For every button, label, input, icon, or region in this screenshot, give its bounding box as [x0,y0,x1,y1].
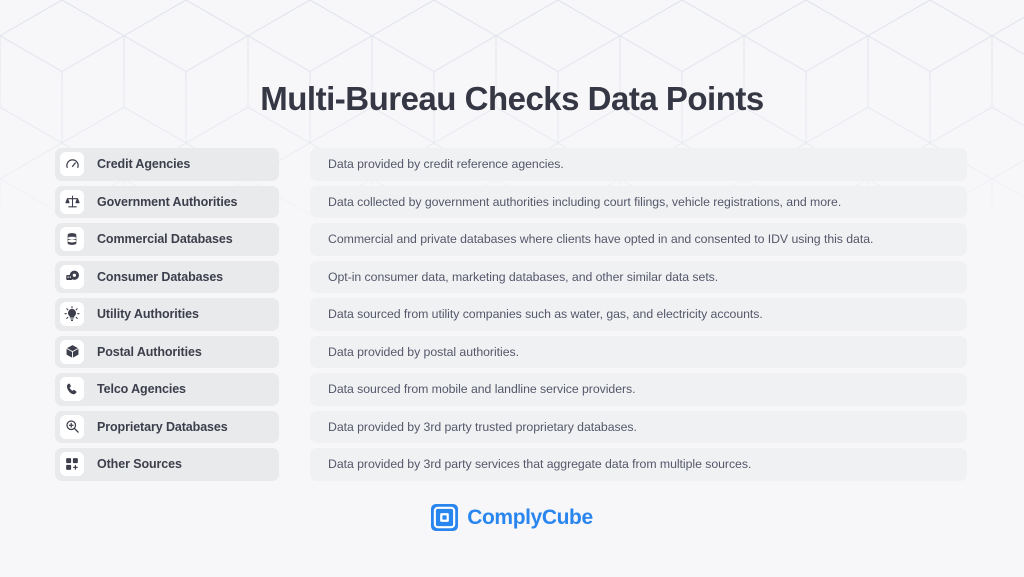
label-text: Credit Agencies [97,157,190,171]
label-pill-utility-authorities[interactable]: Utility Authorities [55,298,279,331]
gauge-icon [60,152,84,176]
description-text: Commercial and private databases where c… [328,232,873,246]
complycube-logo-mark [431,504,458,531]
label-pill-consumer-databases[interactable]: Consumer Databases [55,261,279,294]
description-pill: Data provided by 3rd party trusted propr… [310,411,967,444]
complycube-logo: ComplyCube [0,504,1024,531]
grid-plus-icon [60,452,84,476]
package-box-icon [60,340,84,364]
consumer-data-icon [60,265,84,289]
label-pill-other-sources[interactable]: Other Sources [55,448,279,481]
label-pill-credit-agencies[interactable]: Credit Agencies [55,148,279,181]
table-row: Commercial Databases Commercial and priv… [55,223,967,256]
description-pill: Data collected by government authorities… [310,186,967,219]
scales-of-justice-icon [60,190,84,214]
description-text: Data provided by 3rd party services that… [328,457,751,471]
label-pill-proprietary-databases[interactable]: Proprietary Databases [55,411,279,444]
description-pill: Data provided by credit reference agenci… [310,148,967,181]
description-text: Opt-in consumer data, marketing database… [328,270,718,284]
label-text: Utility Authorities [97,307,199,321]
description-pill: Data sourced from mobile and landline se… [310,373,967,406]
description-text: Data provided by postal authorities. [328,345,519,359]
table-row: Utility Authorities Data sourced from ut… [55,298,967,331]
table-row: Postal Authorities Data provided by post… [55,336,967,369]
description-pill: Data provided by postal authorities. [310,336,967,369]
table-row: Other Sources Data provided by 3rd party… [55,448,967,481]
label-pill-government-authorities[interactable]: Government Authorities [55,186,279,219]
description-text: Data sourced from utility companies such… [328,307,763,321]
table-row: Credit Agencies Data provided by credit … [55,148,967,181]
label-pill-telco-agencies[interactable]: Telco Agencies [55,373,279,406]
infographic-page: Multi-Bureau Checks Data Points Credit A… [0,0,1024,577]
label-text: Consumer Databases [97,270,223,284]
label-text: Government Authorities [97,195,237,209]
table-row: Telco Agencies Data sourced from mobile … [55,373,967,406]
description-text: Data provided by credit reference agenci… [328,157,564,171]
label-pill-commercial-databases[interactable]: Commercial Databases [55,223,279,256]
description-pill: Commercial and private databases where c… [310,223,967,256]
label-text: Telco Agencies [97,382,186,396]
phone-icon [60,377,84,401]
complycube-wordmark: ComplyCube [467,506,593,530]
description-text: Data sourced from mobile and landline se… [328,382,636,396]
page-title: Multi-Bureau Checks Data Points [0,80,1024,118]
label-text: Other Sources [97,457,182,471]
description-text: Data provided by 3rd party trusted propr… [328,420,637,434]
magnifier-icon [60,415,84,439]
label-text: Postal Authorities [97,345,202,359]
description-pill: Opt-in consumer data, marketing database… [310,261,967,294]
table-row: Government Authorities Data collected by… [55,186,967,219]
description-text: Data collected by government authorities… [328,195,841,209]
data-points-table: Credit Agencies Data provided by credit … [55,148,967,486]
database-icon [60,227,84,251]
label-text: Commercial Databases [97,232,233,246]
description-pill: Data provided by 3rd party services that… [310,448,967,481]
description-pill: Data sourced from utility companies such… [310,298,967,331]
table-row: Proprietary Databases Data provided by 3… [55,411,967,444]
label-text: Proprietary Databases [97,420,228,434]
lightbulb-icon [60,302,84,326]
label-pill-postal-authorities[interactable]: Postal Authorities [55,336,279,369]
table-row: Consumer Databases Opt-in consumer data,… [55,261,967,294]
